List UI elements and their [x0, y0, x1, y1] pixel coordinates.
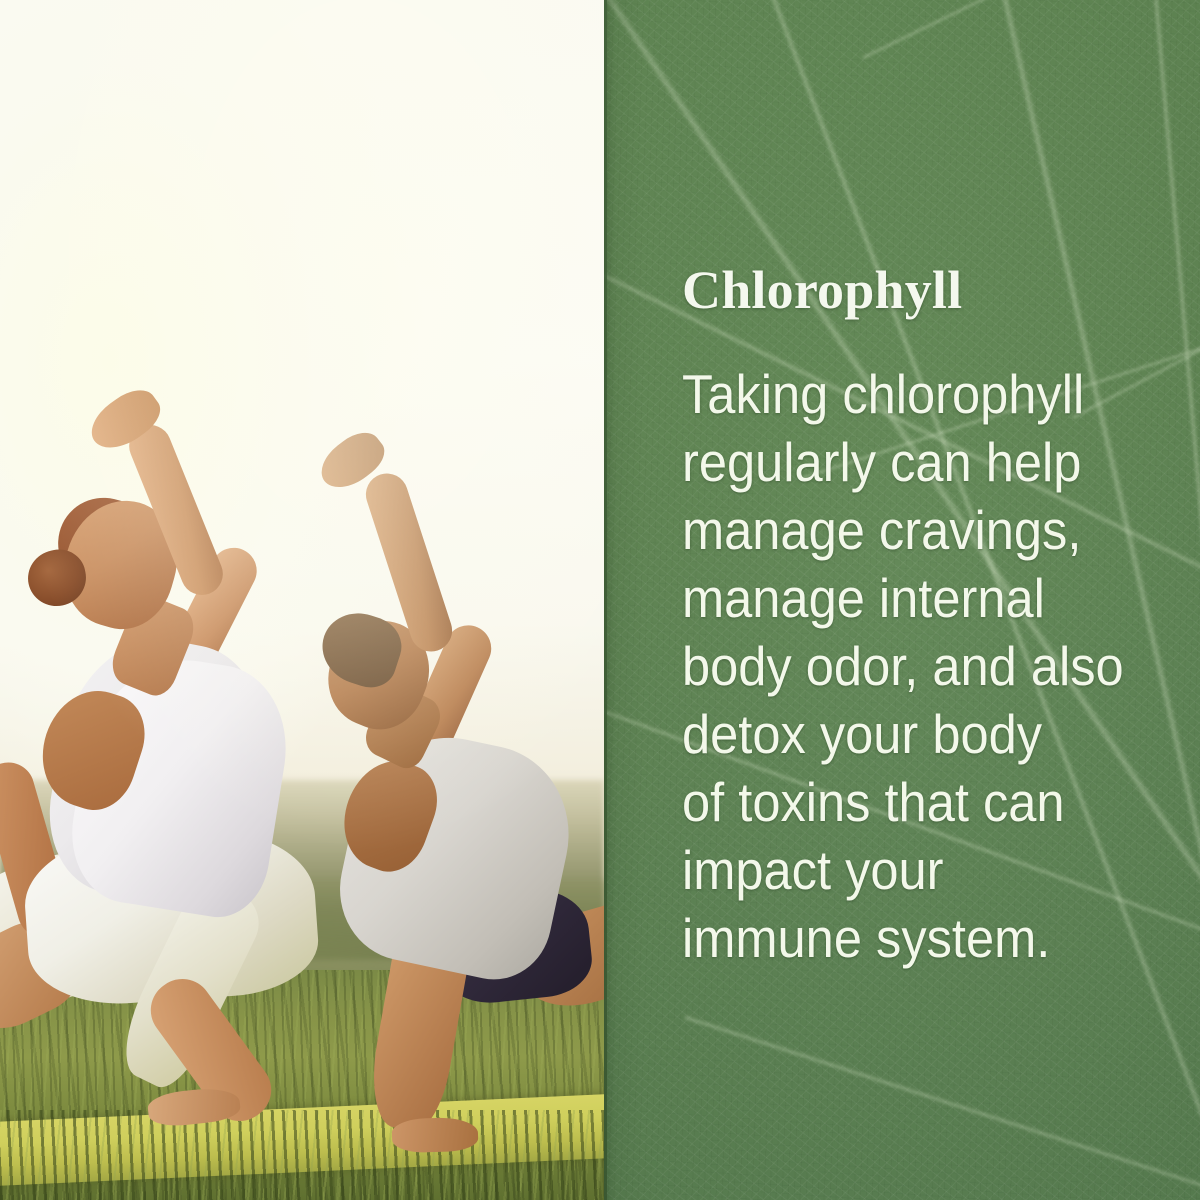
infographic-card: Chlorophyll Taking chlorophyll regularly…	[0, 0, 1200, 1200]
yoga-photo	[0, 0, 604, 1200]
panel-left-edge	[604, 0, 607, 1200]
leaf-text-panel: Chlorophyll Taking chlorophyll regularly…	[604, 0, 1200, 1200]
text-content-block: Chlorophyll Taking chlorophyll regularly…	[682, 262, 1182, 972]
man-foot	[391, 1117, 478, 1154]
body-paragraph: Taking chlorophyll regularly can help ma…	[682, 360, 1142, 972]
page-title: Chlorophyll	[682, 262, 1182, 318]
foreground-grass	[0, 1110, 604, 1200]
